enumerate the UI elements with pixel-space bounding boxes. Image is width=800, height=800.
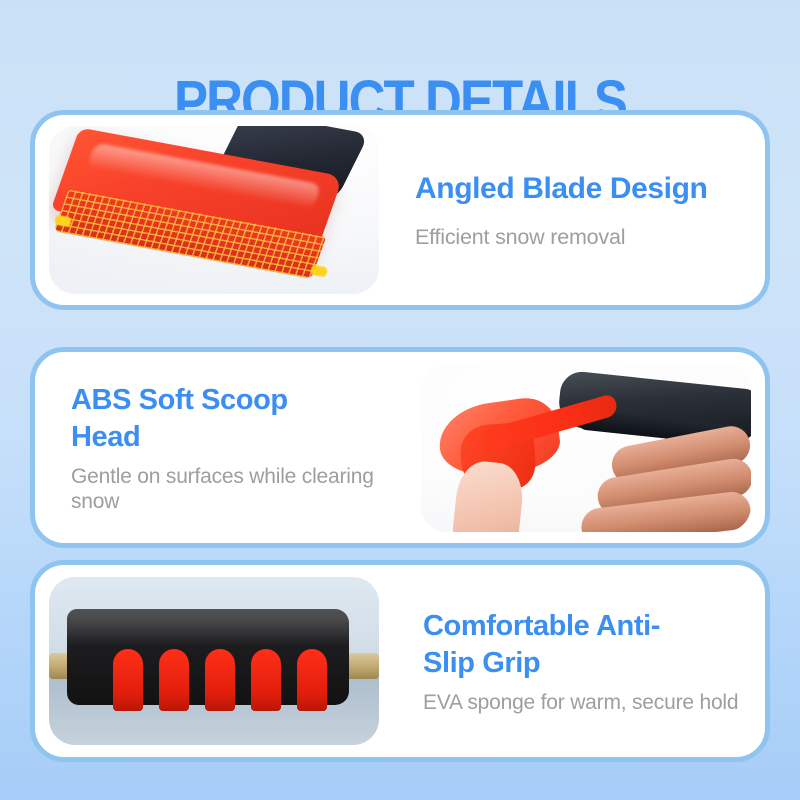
feature-title: Angled Blade Design xyxy=(415,170,747,207)
feature-subtitle: Efficient snow removal xyxy=(415,225,747,250)
grip-groove-2 xyxy=(159,649,189,711)
grip-groove-1 xyxy=(113,649,143,711)
feature-card-comfortable-anti-slip-grip: Comfortable Anti-Slip Grip EVA sponge fo… xyxy=(30,560,770,762)
feature-subtitle: EVA sponge for warm, secure hold xyxy=(423,690,747,715)
feature-text-soft-scoop: ABS Soft Scoop Head Gentle on surfaces w… xyxy=(35,382,407,514)
grip-foam-sleeve xyxy=(67,609,349,705)
grip-groove-3 xyxy=(205,649,235,711)
product-image-soft-scoop xyxy=(421,364,751,532)
grip-groove-5 xyxy=(297,649,327,711)
product-details-page: PRODUCT DETAILS Angled Blade Design Effi… xyxy=(0,0,800,800)
feature-card-abs-soft-scoop-head: ABS Soft Scoop Head Gentle on surfaces w… xyxy=(30,347,770,548)
product-image-anti-slip-grip xyxy=(49,577,379,745)
feature-title: ABS Soft Scoop Head xyxy=(71,382,321,456)
feature-card-angled-blade-design: Angled Blade Design Efficient snow remov… xyxy=(30,110,770,310)
grip-groove-4 xyxy=(251,649,281,711)
blade-tip-right xyxy=(310,265,327,278)
feature-subtitle: Gentle on surfaces while clearing snow xyxy=(71,464,389,514)
product-image-angled-blade xyxy=(49,126,379,294)
feature-title: Comfortable Anti-Slip Grip xyxy=(423,608,693,682)
feature-text-anti-slip-grip: Comfortable Anti-Slip Grip EVA sponge fo… xyxy=(393,608,765,715)
feature-text-angled-blade: Angled Blade Design Efficient snow remov… xyxy=(393,170,765,250)
